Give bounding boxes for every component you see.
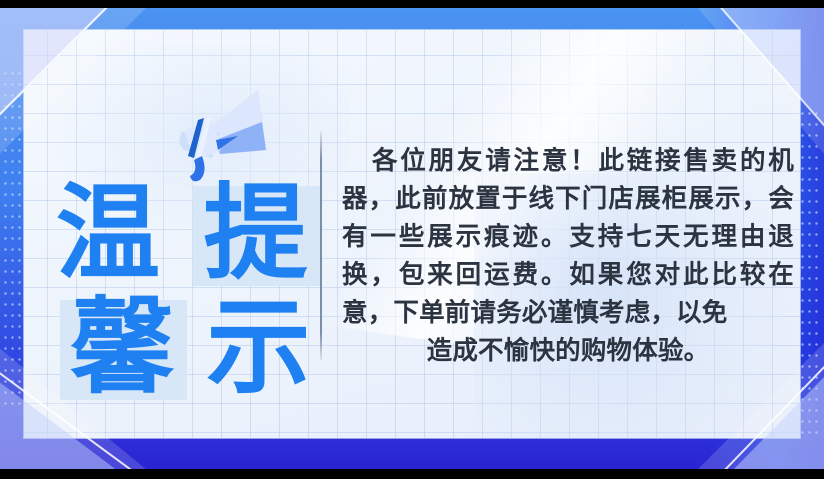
notice-main-text: 各位朋友请注意！此链接售卖的机器，此前放置于线下门店展柜展示，会有一些展示痕迹。… [342, 146, 794, 328]
title-char-4-text: 示 [206, 295, 310, 399]
notice-paragraph: 各位朋友请注意！此链接售卖的机器，此前放置于线下门店展柜展示，会有一些展示痕迹。… [342, 142, 794, 370]
title-char-2-text: 提 [203, 181, 307, 285]
letterbox-bar-bottom [0, 469, 824, 479]
title-char-3: 馨 [56, 290, 189, 404]
title-block: 温 提 馨 示 [50, 64, 322, 404]
dotted-pattern-left [2, 68, 24, 408]
title-char-1: 温 [56, 176, 189, 290]
dotted-pattern-right [799, 108, 821, 438]
title-char-4: 示 [189, 290, 322, 404]
title-char-1-text: 温 [56, 181, 160, 285]
notice-tail-text: 造成不愉快的购物体验。 [342, 332, 794, 370]
promo-banner-image: 温 提 馨 示 各位朋友请注意！此链接售卖的机器，此前放置于线下门店展柜展示，会… [0, 0, 824, 479]
title-characters: 温 提 馨 示 [56, 176, 322, 404]
blue-frame: 温 提 馨 示 各位朋友请注意！此链接售卖的机器，此前放置于线下门店展柜展示，会… [0, 8, 824, 469]
vertical-divider [320, 132, 322, 360]
letterbox-bar-top [0, 0, 824, 8]
title-char-2: 提 [189, 176, 322, 290]
title-char-3-text: 馨 [70, 295, 174, 399]
content-card: 温 提 馨 示 各位朋友请注意！此链接售卖的机器，此前放置于线下门店展柜展示，会… [24, 30, 800, 438]
